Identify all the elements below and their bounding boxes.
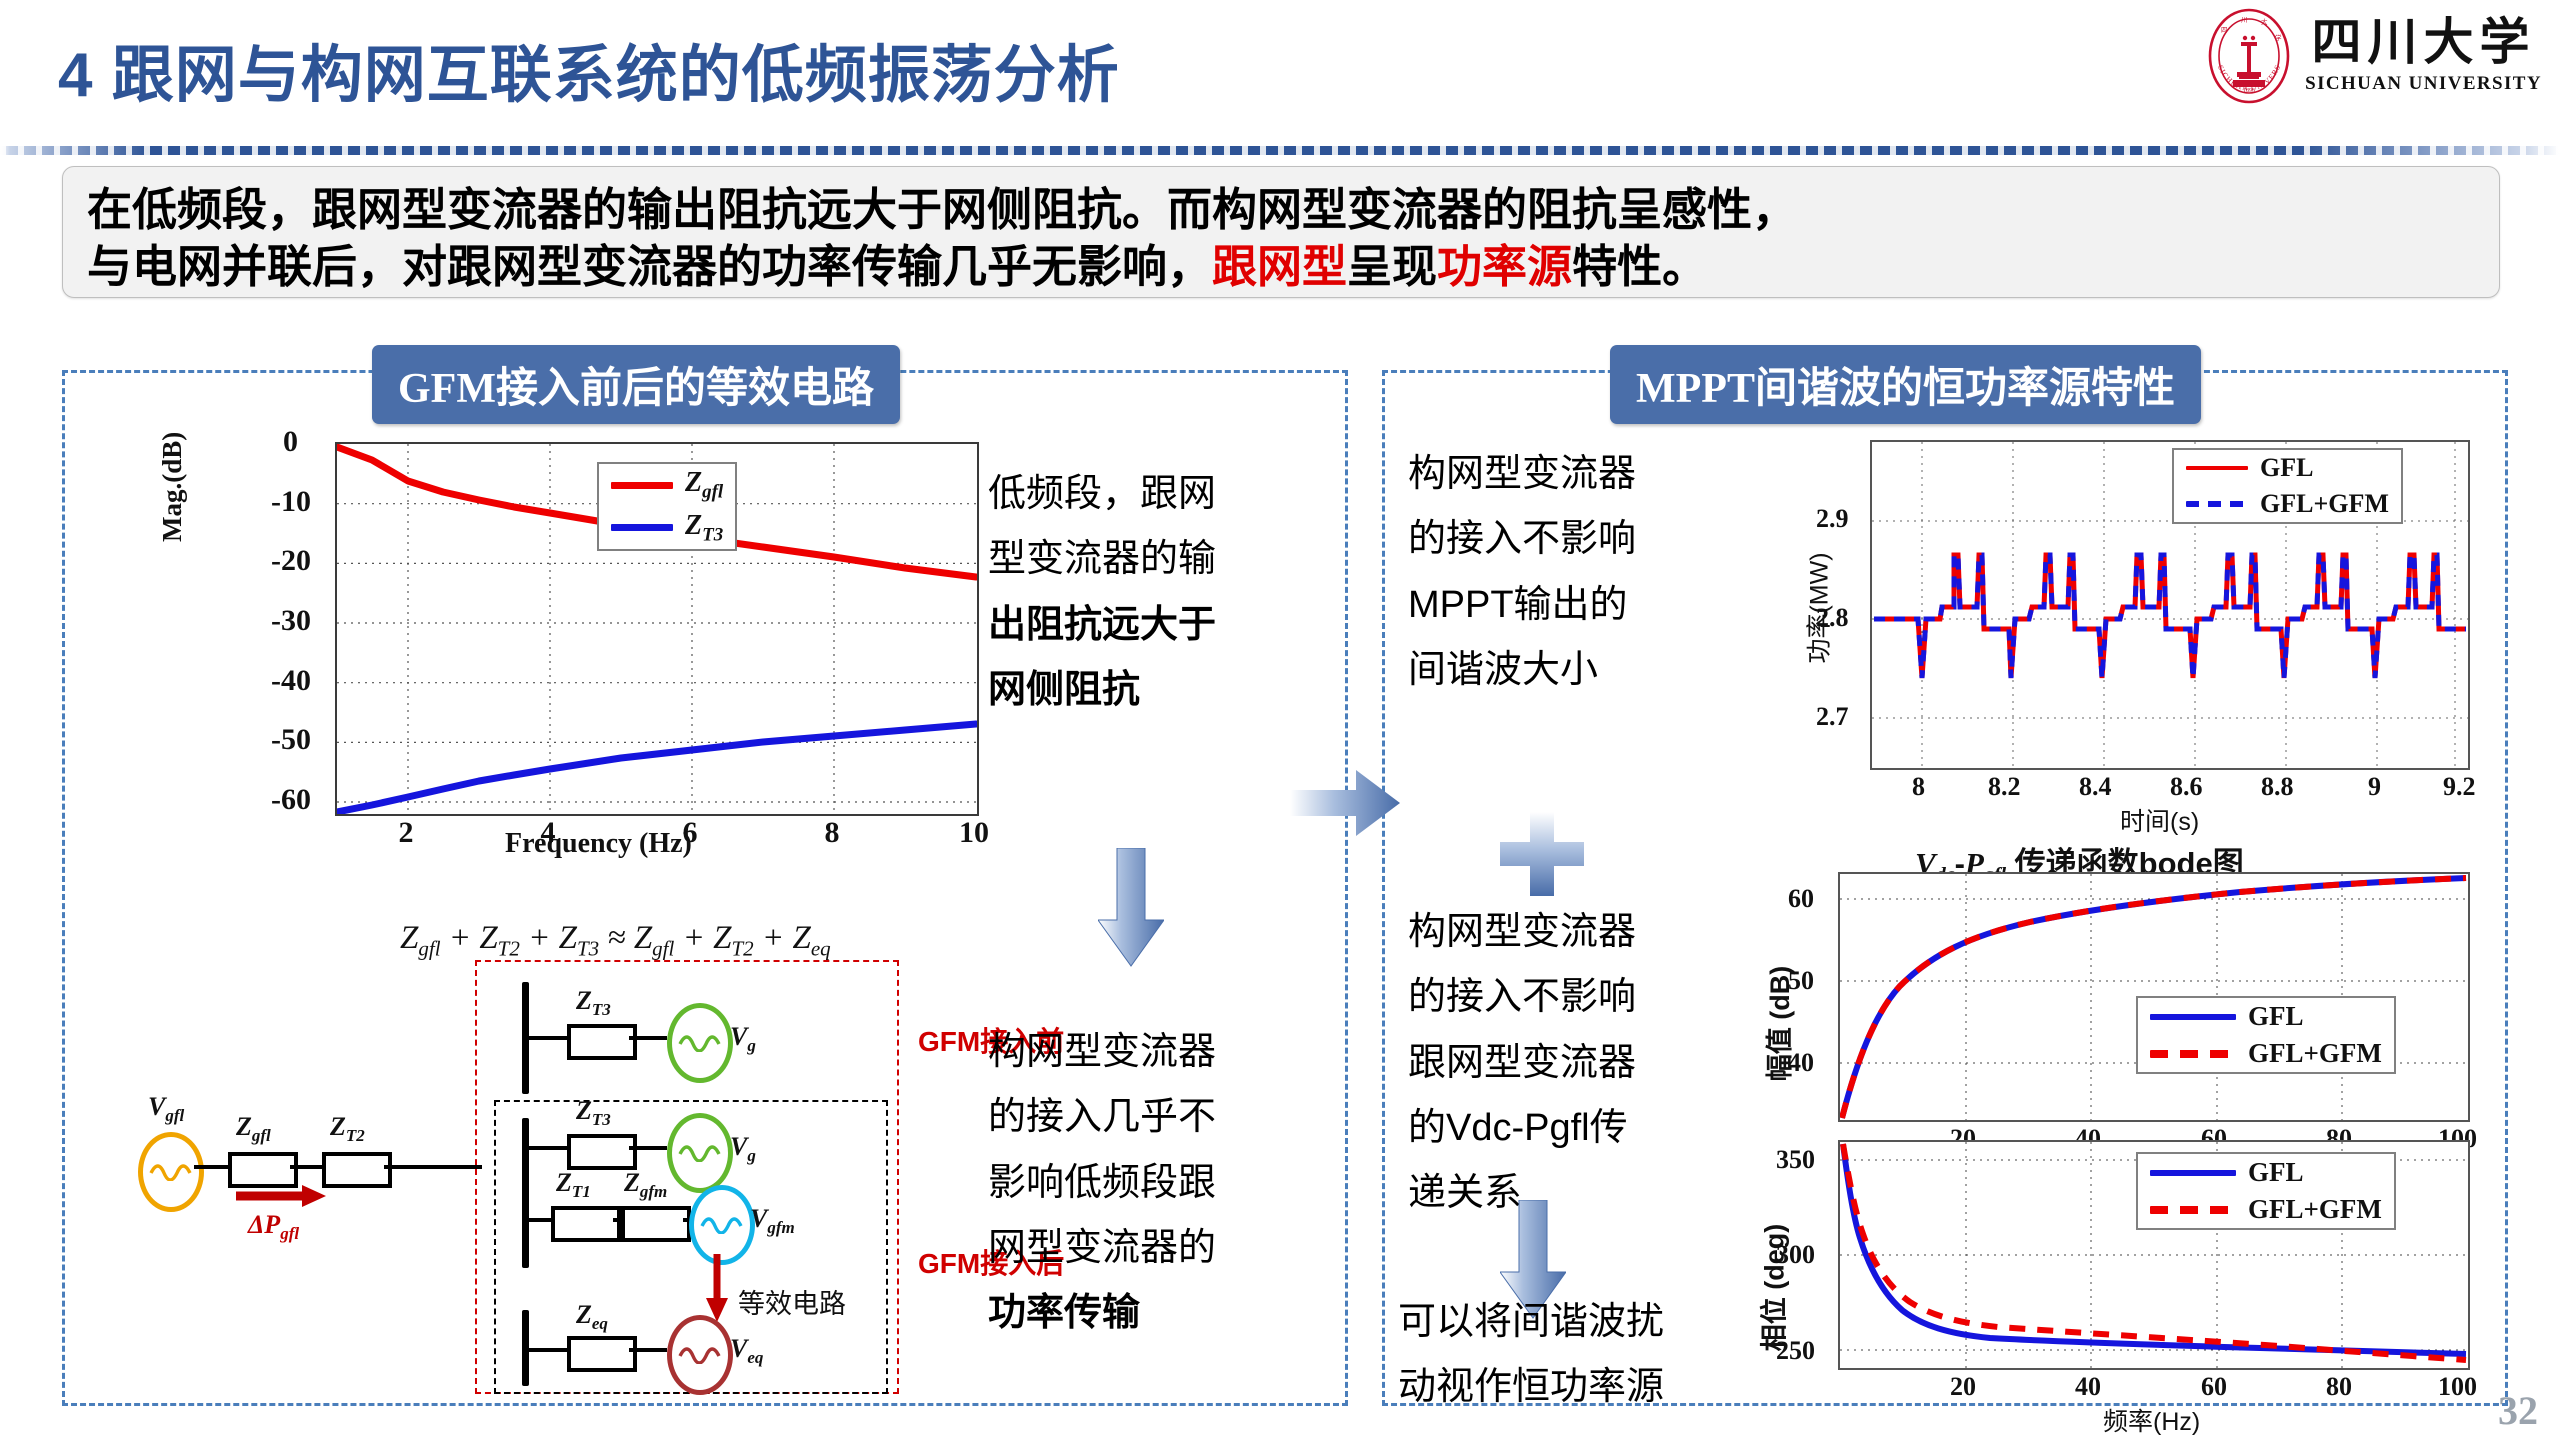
legend-swatch-gflgfm: [2186, 501, 2248, 507]
wire: [529, 1348, 567, 1352]
right-line: 可以将间谐波扰: [1398, 1290, 1698, 1355]
ytick: 250: [1776, 1336, 1815, 1366]
bus-after: [522, 1118, 529, 1268]
ytick: 350: [1776, 1145, 1815, 1175]
label-zgfm: Zgfm: [624, 1168, 667, 1202]
ytick: -30: [271, 604, 985, 638]
slide-root: 4 跟网与构网互联系统的低频振荡分析 1896 四 川 大 学 SICHUAN …: [0, 0, 2560, 1440]
impedance-zt3-before: [567, 1024, 637, 1060]
ytick: -20: [271, 544, 985, 578]
statement-highlight-2: 功率源: [1437, 241, 1572, 292]
mid-line: 低频段，跟网: [988, 462, 1260, 527]
legend-label-gfl: GFL: [2248, 1001, 2304, 1032]
page-title: 4 跟网与构网互联系统的低频振荡分析: [58, 24, 1120, 114]
xtick: 40: [2075, 1372, 2101, 1402]
right-line: MPPT输出的: [1408, 573, 1680, 638]
legend-swatch-gfl: [2150, 1170, 2236, 1176]
impedance-zeq: [567, 1336, 637, 1372]
label-vg-after: Vg: [730, 1132, 756, 1166]
legend-item: GFL: [2174, 450, 2401, 486]
xtick: 8.6: [2170, 772, 2203, 802]
header: 4 跟网与构网互联系统的低频振荡分析 1896 四 川 大 学 SICHUAN …: [0, 0, 2560, 150]
ytick: 2.9: [1816, 504, 1849, 534]
xtick: 9: [2368, 772, 2381, 802]
label-zt2: ZT2: [330, 1112, 365, 1146]
mid-line: 网型变流器的: [988, 1216, 1260, 1281]
logo-chinese-name: 四川大学: [2312, 17, 2536, 67]
page-number: 32: [2498, 1387, 2538, 1434]
label-zt1: ZT1: [556, 1168, 591, 1202]
right-line: 构网型变流器: [1408, 900, 1680, 965]
ac-wave-icon: [678, 1340, 722, 1364]
impedance-bode-chart: Mag.(dB) Zgfl: [175, 432, 985, 862]
xtick: 9.2: [2443, 772, 2476, 802]
wire: [529, 1036, 567, 1040]
ytick: -50: [271, 723, 985, 757]
xtick: 8.8: [2261, 772, 2294, 802]
label-zt3-before: ZT3: [576, 986, 611, 1020]
wire: [384, 1165, 482, 1169]
legend-label-gfl: GFL: [2248, 1157, 2304, 1188]
mid-line: 的接入几乎不: [988, 1085, 1260, 1150]
mid-line: 出阻抗远大于: [988, 593, 1260, 658]
source-vgfl: [138, 1132, 204, 1212]
mid-line: 影响低频段跟: [988, 1151, 1260, 1216]
wire: [194, 1165, 228, 1169]
label-zt3-after: ZT3: [576, 1096, 611, 1130]
xtick: 8: [825, 816, 840, 850]
mppt-power-legend: GFL GFL+GFM: [2172, 448, 2403, 524]
source-vg-before: [667, 1003, 733, 1083]
mid-line: 功率传输: [988, 1281, 1260, 1346]
right-line: 间谐波大小: [1408, 638, 1680, 703]
legend-swatch-zt3: [611, 524, 673, 531]
magnitude-plot: GFL GFL+GFM: [1838, 872, 2470, 1122]
phase-legend: GFL GFL+GFM: [2136, 1152, 2396, 1230]
power-flow-arrow-icon: [234, 1182, 330, 1210]
impedance-zt2: [322, 1152, 392, 1188]
xtick: 2: [399, 816, 414, 850]
ac-wave-icon: [678, 1138, 722, 1162]
ytick: 2.8: [1816, 603, 1849, 633]
label-zeq: Zeq: [576, 1300, 608, 1334]
plus-icon: [1500, 812, 1584, 896]
bus-before: [522, 982, 529, 1094]
equivalent-circuit-diagram: Vgfl Zgfl ZT2 ΔPgfl ZT3 Vg GFM接入前 ZT3: [90, 960, 900, 1390]
magnitude-legend: GFL GFL+GFM: [2136, 996, 2396, 1074]
right-line: 构网型变流器: [1408, 442, 1680, 507]
wire: [629, 1348, 667, 1352]
right-text-block-3: 可以将间谐波扰 动视作恒功率源: [1398, 1290, 1698, 1421]
label-vgfl: Vgfl: [148, 1092, 184, 1126]
xtick: 100: [2438, 1372, 2477, 1402]
legend-swatch-gfl: [2150, 1014, 2236, 1020]
legend-item: GFL: [2138, 1154, 2394, 1191]
ac-wave-icon: [678, 1028, 722, 1052]
source-veq: [667, 1315, 733, 1395]
right-line: 的接入不影响: [1408, 507, 1680, 572]
ytick: 60: [1788, 884, 1814, 914]
left-panel-title: GFM接入前后的等效电路: [372, 345, 900, 424]
right-panel-title: MPPT间谐波的恒功率源特性: [1610, 345, 2201, 424]
legend-label-gfl: GFL: [2260, 453, 2313, 483]
right-line: 的接入不影响: [1408, 965, 1680, 1030]
mppt-power-chart: GFL GFL+GFM 功率(MW) 2.9 2.8 2.7 8 8.2 8.4…: [1870, 440, 2470, 770]
legend-label-gflgfm: GFL+GFM: [2248, 1194, 2382, 1225]
xtick: 80: [2326, 1372, 2352, 1402]
ytick: 50: [1788, 966, 1814, 996]
ytick: -40: [271, 664, 985, 698]
label-vgfm: Vgfm: [750, 1204, 795, 1238]
wire: [529, 1218, 551, 1222]
statement-highlight-1: 跟网型: [1212, 241, 1347, 292]
down-arrow-icon-left: [1098, 848, 1164, 968]
impedance-bode-xlabel: Frequency (Hz): [505, 828, 692, 860]
label-delta-pgfl: ΔPgfl: [248, 1210, 299, 1244]
xtick: 10: [959, 816, 989, 850]
statement-box: 在低频段，跟网型变流器的输出阻抗远大于网侧阻抗。而构网型变流器的阻抗呈感性， 与…: [62, 166, 2500, 298]
statement-line1: 在低频段，跟网型变流器的输出阻抗远大于网侧阻抗。而构网型变流器的阻抗呈感性，: [87, 184, 1797, 235]
phase-plot: GFL GFL+GFM: [1838, 1140, 2470, 1370]
svg-text:学: 学: [2275, 33, 2282, 42]
svg-text:大: 大: [2261, 17, 2268, 26]
legend-swatch-gflgfm: [2150, 1050, 2236, 1058]
legend-swatch-gfl: [2186, 466, 2248, 470]
mid-text-block-2: 构网型变流器 的接入几乎不 影响低频段跟 网型变流器的 功率传输: [988, 1020, 1260, 1347]
sichuan-university-seal-icon: 1896 四 川 大 学 SICHUAN UNIVERSITY: [2207, 8, 2291, 104]
legend-item: GFL+GFM: [2174, 486, 2401, 522]
label-zgfl: Zgfl: [236, 1112, 271, 1146]
vdc-pgfl-magnitude-chart: GFL GFL+GFM 幅值 (dB) 60 50 40 20 40 60 80…: [1838, 872, 2470, 1122]
xtick: 8.4: [2079, 772, 2112, 802]
legend-item: GFL+GFM: [2138, 1035, 2394, 1072]
wire: [613, 1218, 621, 1222]
xtick: 20: [1950, 1372, 1976, 1402]
right-text-block-1: 构网型变流器 的接入不影响 MPPT输出的 间谐波大小: [1408, 442, 1680, 703]
wire: [629, 1146, 667, 1150]
legend-label-gflgfm: GFL+GFM: [2248, 1038, 2382, 1069]
university-logo: 1896 四 川 大 学 SICHUAN UNIVERSITY 四川大学 SIC…: [2207, 8, 2542, 104]
wire: [629, 1036, 667, 1040]
logo-english-name: SICHUAN UNIVERSITY: [2305, 73, 2542, 95]
mid-line: 网侧阻抗: [988, 658, 1260, 723]
label-veq: Veq: [730, 1334, 763, 1368]
legend-label-gflgfm: GFL+GFM: [2260, 489, 2389, 519]
ytick: -60: [271, 783, 985, 817]
xtick: 60: [2201, 1372, 2227, 1402]
source-vg-after: [667, 1113, 733, 1193]
ac-wave-icon: [700, 1210, 744, 1234]
legend-item: GFL+GFM: [2138, 1191, 2394, 1228]
legend-swatch-gflgfm: [2150, 1206, 2236, 1214]
ytick: 0: [283, 425, 985, 459]
vdc-pgfl-phase-chart: GFL GFL+GFM 相位 (deg) 350 300 250 20 40 6…: [1838, 1140, 2470, 1370]
ac-wave-icon: [149, 1157, 193, 1181]
label-vg-before: Vg: [730, 1022, 756, 1056]
impedance-zt1: [551, 1206, 621, 1242]
impedance-zt3-after: [567, 1134, 637, 1170]
svg-text:川: 川: [2241, 17, 2248, 24]
impedance-zgfm: [621, 1206, 691, 1242]
bus-equiv: [522, 1310, 529, 1386]
equivalent-circuit-label: 等效电路: [738, 1282, 846, 1321]
statement-line2-a: 与电网并联后，对跟网型变流器的功率传输几乎无影响，: [87, 241, 1212, 292]
ytick: 2.7: [1816, 702, 1849, 732]
wire: [529, 1146, 567, 1150]
xtick: 8.2: [1988, 772, 2021, 802]
ytick: 40: [1788, 1048, 1814, 1078]
mppt-power-plot: GFL GFL+GFM: [1870, 440, 2470, 770]
xtick: 8: [1912, 772, 1925, 802]
statement-line2-b: 呈现: [1347, 241, 1437, 292]
right-line: 动视作恒功率源: [1398, 1355, 1698, 1420]
right-line: 跟网型变流器: [1408, 1031, 1680, 1096]
equivalence-arrow-icon: [704, 1252, 730, 1324]
statement-line2-c: 特性。: [1572, 241, 1707, 292]
mid-text-block-1: 低频段，跟网 型变流器的输 出阻抗远大于 网侧阻抗: [988, 462, 1260, 723]
wire: [290, 1165, 322, 1169]
right-arrow-icon: [1290, 770, 1400, 836]
mid-line: 构网型变流器: [988, 1020, 1260, 1085]
impedance-equation: Zgfl + ZT2 + ZT3 ≈ Zgfl + ZT2 + Zeq: [400, 920, 831, 962]
mid-line: 型变流器的输: [988, 527, 1260, 592]
phase-xlabel: 频率(Hz): [2103, 1402, 2200, 1438]
ytick: 300: [1776, 1240, 1815, 1270]
svg-text:四: 四: [2221, 26, 2228, 34]
mppt-power-xlabel: 时间(s): [2120, 802, 2199, 838]
right-line: 的Vdc-Pgfl传: [1408, 1096, 1680, 1161]
legend-item: GFL: [2138, 998, 2394, 1035]
ytick: -10: [271, 485, 985, 519]
header-divider: [0, 146, 2560, 155]
impedance-bode-ylabel: Mag.(dB): [157, 432, 188, 542]
right-text-block-2: 构网型变流器 的接入不影响 跟网型变流器 的Vdc-Pgfl传 递关系: [1408, 900, 1680, 1227]
